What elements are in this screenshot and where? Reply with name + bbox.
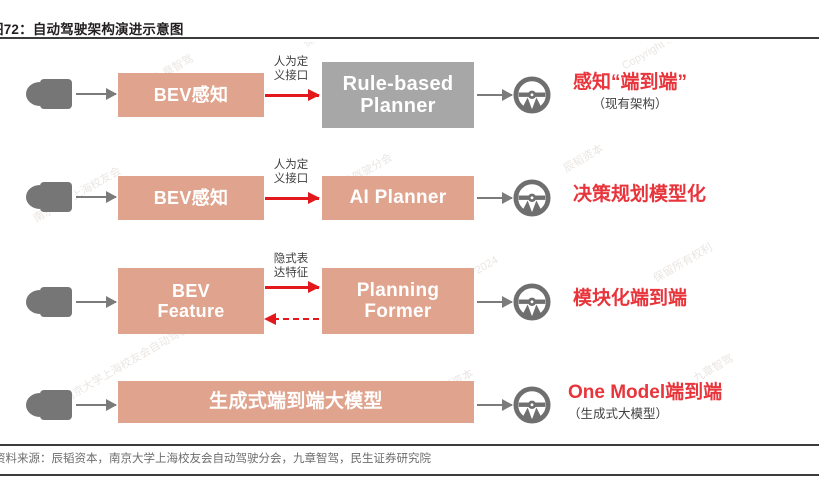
footer-divider-bottom	[0, 474, 819, 476]
interface-label-line1: 隐式表	[261, 253, 321, 267]
block-label-line1: Planning	[357, 280, 440, 301]
output-arrow	[477, 399, 512, 411]
output-arrow	[477, 192, 512, 204]
interface-label: 人为定 义接口	[261, 56, 321, 83]
block-label: BEV感知	[154, 85, 229, 105]
result-label: 决策规划模型化	[573, 184, 706, 208]
result-label: 感知“端到端” （现有架构）	[573, 72, 687, 112]
output-arrow	[477, 89, 512, 101]
interface-label-line1: 人为定	[261, 56, 321, 70]
block-label-line1: Rule-based	[343, 73, 454, 95]
row-perception-end-to-end: BEV感知 人为定 义接口 Rule-based Planner	[0, 62, 819, 134]
block-label-line2: Former	[364, 301, 431, 322]
interface-label-line1: 人为定	[261, 159, 321, 173]
row-modular-end-to-end: BEV Feature 隐式表 达特征 Planning Former	[0, 265, 819, 337]
steering-wheel-icon	[513, 283, 551, 321]
steering-wheel-icon	[513, 76, 551, 114]
interface-arrow	[265, 89, 319, 101]
result-label: 模块化端到端	[573, 288, 687, 312]
block-ai-planner: AI Planner	[322, 176, 474, 220]
steering-wheel-icon	[513, 386, 551, 424]
block-bev-feature: BEV Feature	[118, 268, 264, 334]
row-planning-model: BEV感知 人为定 义接口 AI Planner 决策规划模型化	[0, 165, 819, 237]
block-bev-perception: BEV感知	[118, 73, 264, 117]
block-label-line2: Planner	[360, 95, 435, 117]
interface-label-line2: 义接口	[261, 70, 321, 84]
result-main: 感知“端到端”	[573, 72, 687, 94]
result-main: 模块化端到端	[573, 288, 687, 310]
result-sub: （现有架构）	[573, 96, 687, 112]
result-sub: （生成式大模型）	[568, 406, 722, 422]
input-arrow	[76, 296, 116, 308]
block-generative-end-to-end-model: 生成式端到端大模型	[118, 381, 474, 423]
input-arrow	[76, 399, 116, 411]
camera-icon	[26, 182, 72, 212]
input-arrow	[76, 88, 116, 100]
block-label-line2: Feature	[157, 301, 224, 321]
feature-forward-arrow	[265, 281, 319, 293]
result-main: One Model端到端	[568, 382, 722, 404]
block-rule-based-planner: Rule-based Planner	[322, 62, 474, 128]
watermark-text: 保留所有权利	[300, 42, 365, 51]
block-planning-former: Planning Former	[322, 268, 474, 334]
figure-title: 图72：自动驾驶架构演进示意图	[0, 18, 450, 38]
row-one-model: 生成式端到端大模型 One Model端到端 （生成式大模型）	[0, 375, 819, 447]
footer-divider-top	[0, 444, 819, 446]
interface-label: 隐式表 达特征	[261, 253, 321, 280]
block-bev-perception: BEV感知	[118, 176, 264, 220]
title-divider	[0, 37, 819, 39]
figure-page: 图72：自动驾驶架构演进示意图 九章智驾 保留所有权利 Copyright © …	[0, 0, 819, 490]
source-note: 资料来源：辰韬资本，南京大学上海校友会自动驾驶分会，九章智驾，民生证券研究院	[0, 450, 819, 466]
input-arrow	[76, 191, 116, 203]
interface-label-line2: 义接口	[261, 173, 321, 187]
result-label: One Model端到端 （生成式大模型）	[568, 382, 722, 422]
output-arrow	[477, 296, 512, 308]
camera-icon	[26, 79, 72, 109]
camera-icon	[26, 390, 72, 420]
feature-feedback-arrow	[265, 313, 319, 325]
camera-icon	[26, 287, 72, 317]
interface-label-line2: 达特征	[261, 267, 321, 281]
block-label-line1: BEV	[172, 281, 210, 301]
interface-arrow	[265, 192, 319, 204]
block-label: 生成式端到端大模型	[209, 391, 383, 412]
block-label: AI Planner	[350, 187, 447, 208]
result-main: 决策规划模型化	[573, 184, 706, 206]
block-label: BEV感知	[154, 188, 229, 208]
interface-label: 人为定 义接口	[261, 159, 321, 186]
steering-wheel-icon	[513, 179, 551, 217]
